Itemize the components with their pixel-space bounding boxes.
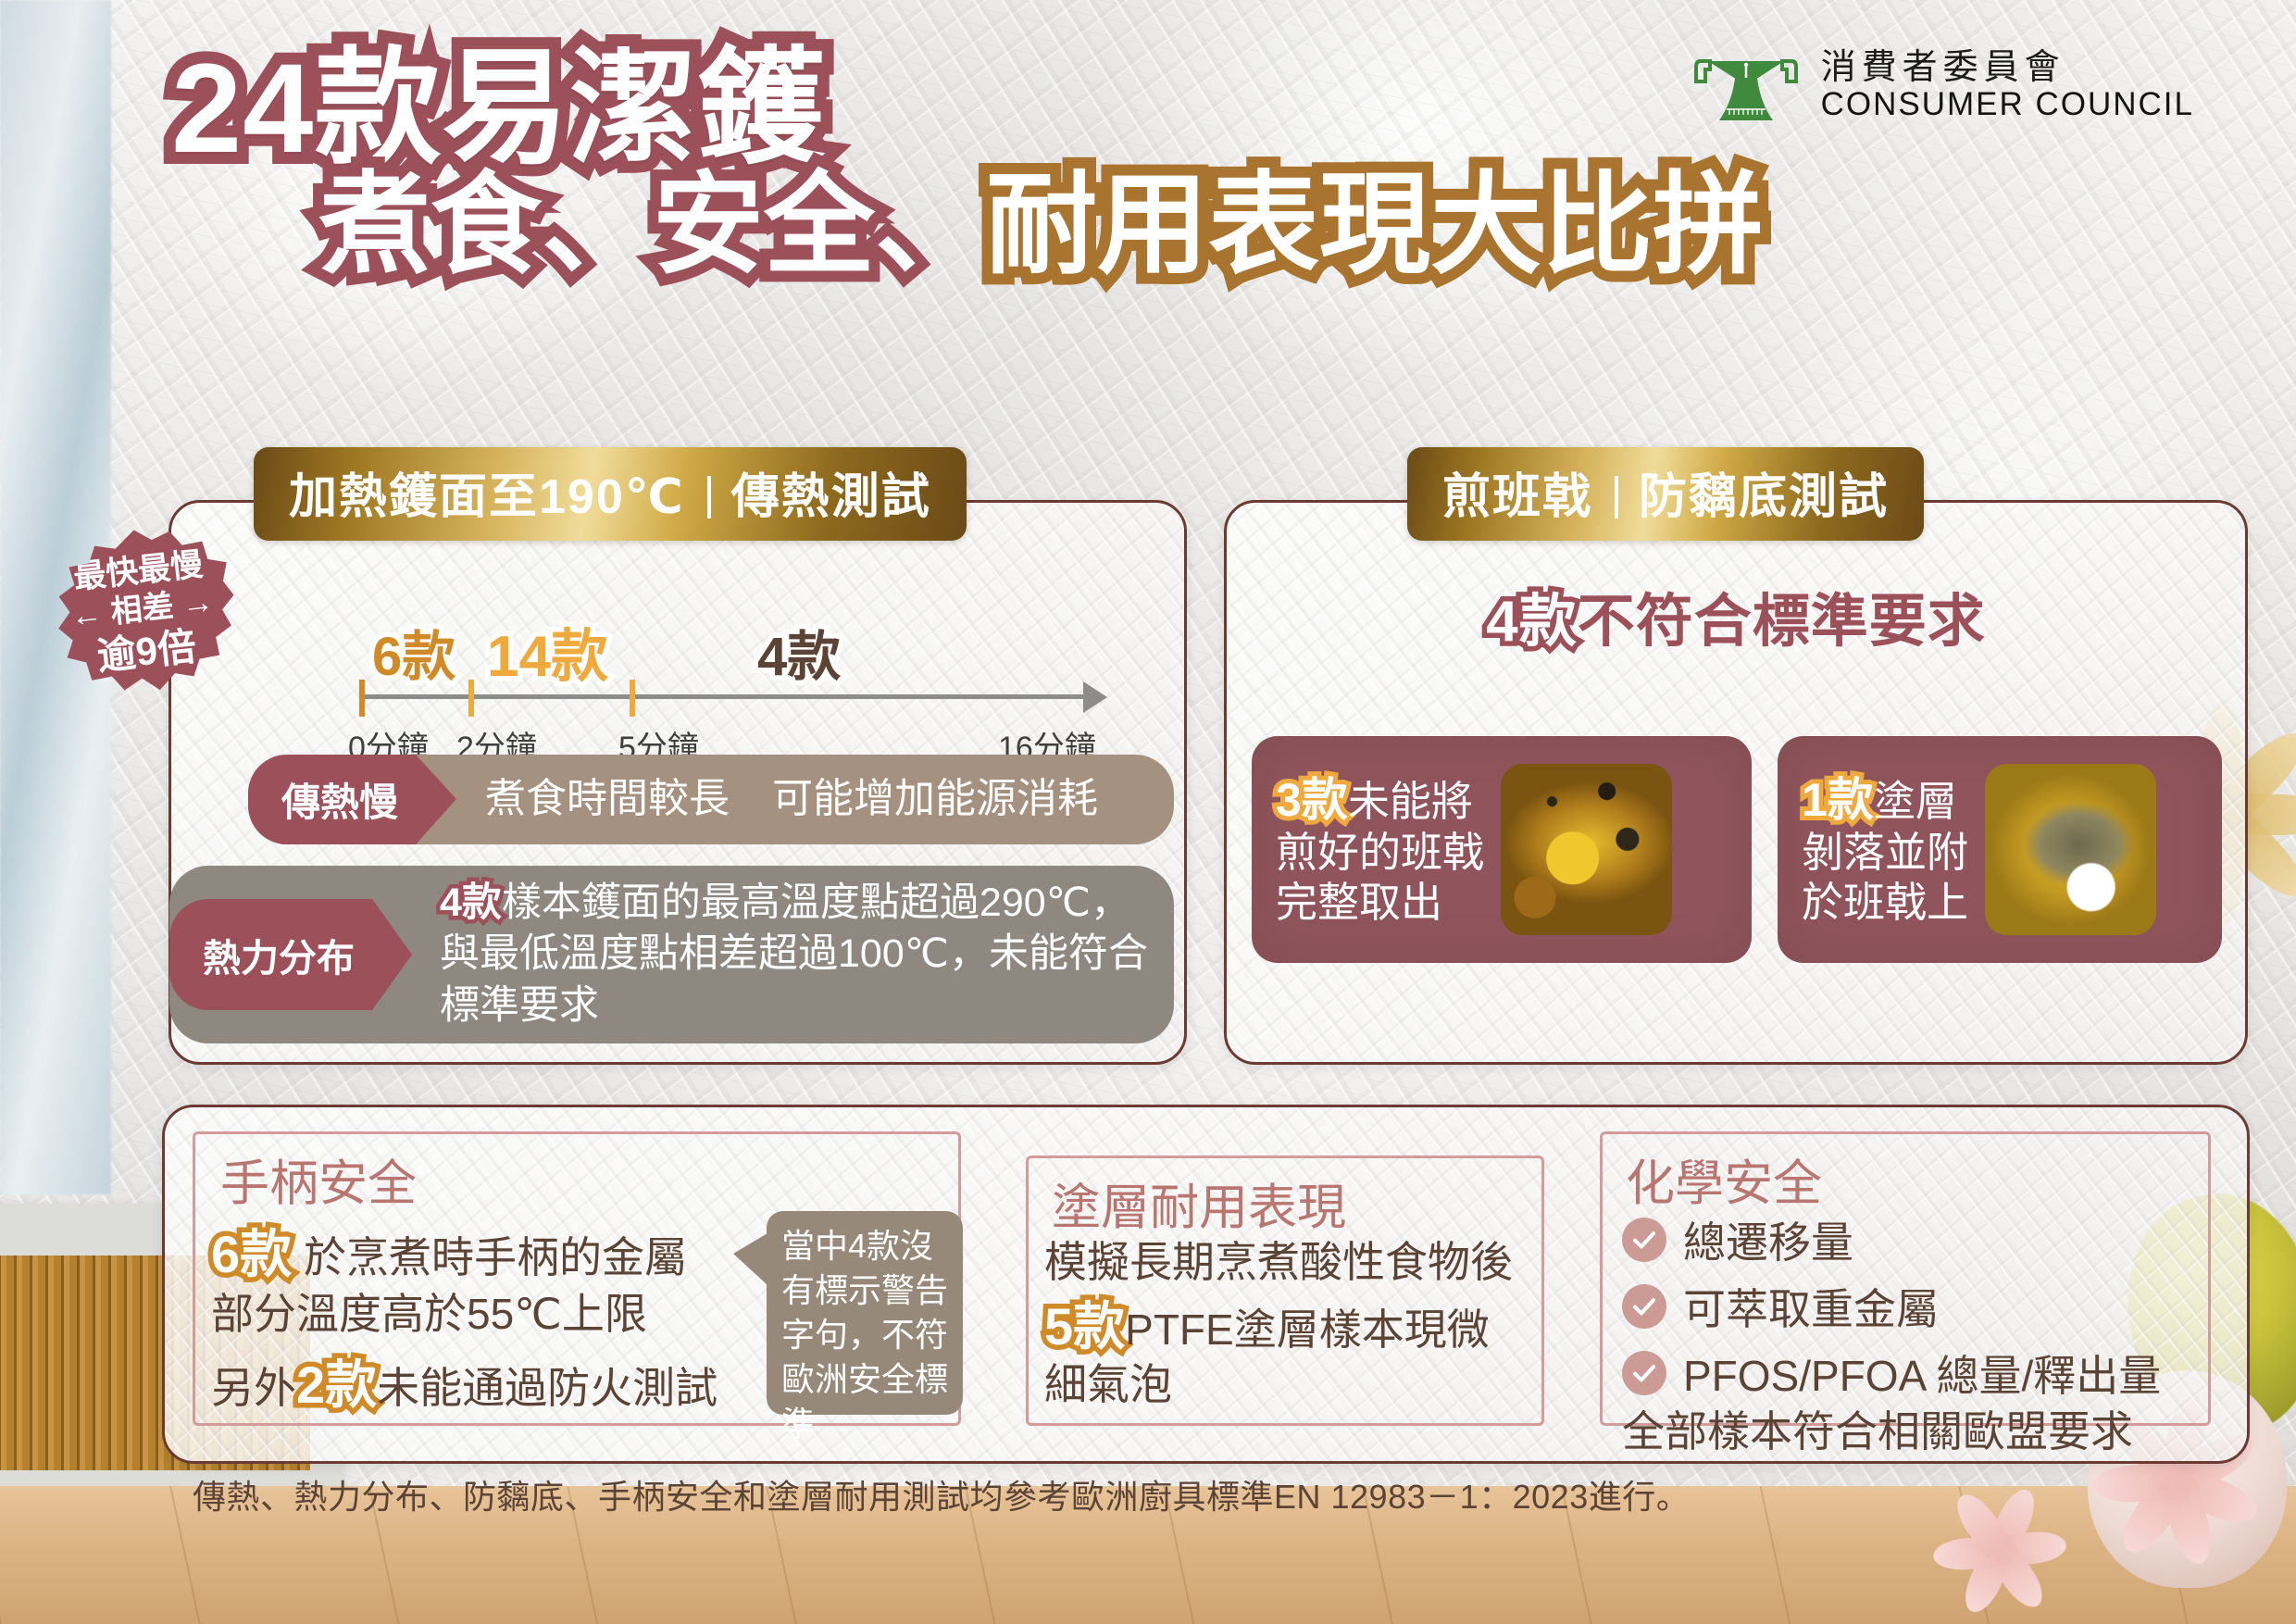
heat-distribution-highlight: 4款	[440, 881, 502, 925]
stick-headline-num: 4款	[1486, 590, 1577, 654]
card-1-text: 3款未能將 煎好的班戟 完整取出	[1276, 772, 1484, 928]
stick-panel-header: 煎班戟 防黐底測試	[1407, 447, 1924, 541]
slow-heat-bar: 傳熱慢 煮食時間較長 可能增加能源消耗	[248, 755, 1174, 844]
logo-name-en: CONSUMER COUNCIL	[1821, 87, 2194, 123]
coating-line-1: 模擬長期烹煮酸性食物後	[1044, 1231, 1549, 1293]
logo-name-cn: 消費者委員會	[1821, 50, 2194, 87]
chemical-item-1-label: 總遷移量	[1683, 1209, 1853, 1270]
slow-heat-text-b: 可能增加能源消耗	[772, 773, 1098, 825]
heat-panel-header: 加熱鑊面至190℃ 傳熱測試	[254, 447, 967, 541]
heat-header-left: 加熱鑊面至190℃	[289, 457, 685, 527]
handle-line-1-text: 於烹煮時手柄的金屬	[304, 1233, 687, 1281]
timeline-count-14: 14款	[487, 609, 608, 693]
heat-distribution-body: 樣本鑊面的最高溫度點超過290℃，與最低溫度點相差超過100℃，未能符合標準要求	[440, 881, 1148, 1027]
badge-line-3: 逾9倍	[94, 624, 198, 678]
check-circle-icon	[1622, 1284, 1666, 1329]
check-icon	[1630, 1359, 1658, 1387]
slow-heat-text-a: 煮食時間較長	[485, 773, 730, 825]
stick-headline-rest: 不符合標準要求	[1578, 590, 1986, 654]
handle-num-2: 2款	[296, 1355, 377, 1414]
card-2-num: 1款	[1802, 774, 1874, 826]
coating-num-5: 5款	[1044, 1297, 1125, 1355]
handle-line-3-text: 未能通過防火測試	[377, 1364, 717, 1412]
non-stick-result-card-2: 1款塗層 剝落並附 於班戟上	[1778, 736, 2222, 963]
handle-line-3-prefix: 另外	[211, 1364, 296, 1412]
handle-num-6: 6款	[211, 1225, 292, 1283]
check-circle-icon	[1622, 1218, 1666, 1262]
coating-durability-title: 塗層耐用表現	[1052, 1168, 1346, 1239]
heat-header-right: 傳熱測試	[731, 457, 931, 527]
pink-flower-decoration	[2177, 1481, 2187, 1491]
warning-label-callout: 當中4款沒有標示警告字句，不符歐洲安全標準	[767, 1211, 963, 1415]
page-title: 24款易潔鑊 煮食、安全、 耐用表現大比拼	[171, 44, 1764, 281]
stick-header-left: 煎班戟	[1442, 457, 1592, 527]
header-divider	[707, 476, 711, 518]
burnt-pancake-photo	[1501, 764, 1672, 935]
coating-line-2-text: PTFE塗層樣本現微	[1125, 1305, 1490, 1354]
check-circle-icon	[1622, 1351, 1666, 1395]
timeline-count-4: 4款	[757, 613, 841, 691]
check-icon	[1630, 1226, 1658, 1254]
slow-heat-tag: 傳熱慢	[248, 755, 417, 844]
heat-distribution-bar: 熱力分布 4款樣本鑊面的最高溫度點超過290℃，與最低溫度點相差超過100℃，未…	[169, 866, 1174, 1043]
title-line-2: 煮食、安全、 耐用表現大比拼	[319, 169, 1764, 281]
chemical-safety-title: 化學安全	[1626, 1144, 1822, 1215]
card-1-num: 3款	[1276, 774, 1348, 826]
title-line-1: 24款易潔鑊	[171, 44, 1764, 174]
timeline-count-6: 6款	[372, 613, 455, 691]
slow-heat-text: 煮食時間較長 可能增加能源消耗	[485, 773, 1098, 825]
peeled-coating-photo	[1985, 764, 2156, 935]
chemical-item-2-label: 可萃取重金屬	[1683, 1276, 1939, 1337]
header-divider	[1615, 476, 1618, 518]
chemical-item-2: 可萃取重金屬	[1622, 1276, 1939, 1337]
timeline-tick-2	[468, 680, 474, 717]
timeline-arrow-icon	[1083, 681, 1107, 713]
stick-headline: 4款不符合標準要求	[1224, 574, 2248, 657]
title-line-2-part-2: 耐用表現大比拼	[986, 169, 1764, 281]
card-2-text: 1款塗層 剝落並附 於班戟上	[1802, 772, 1968, 928]
consumer-council-logo: 消費者委員會 CONSUMER COUNCIL	[1691, 44, 2194, 128]
chemical-item-3-label: PFOS/PFOA 總量/釋出量	[1683, 1343, 2161, 1404]
heat-distribution-tag: 熱力分布	[169, 899, 373, 1010]
pink-flower-decoration-2	[2000, 1551, 2009, 1560]
check-icon	[1630, 1293, 1658, 1320]
heat-distribution-text: 4款樣本鑊面的最高溫度點超過290℃，與最低溫度點相差超過100℃，未能符合標準…	[440, 878, 1155, 1031]
non-stick-result-card-1: 3款未能將 煎好的班戟 完整取出	[1252, 736, 1752, 963]
chemical-safety-note: 全部樣本符合相關歐盟要求	[1622, 1398, 2133, 1459]
coating-line-3: 細氣泡	[1044, 1354, 1549, 1415]
timeline-tick-0	[359, 680, 365, 717]
stick-header-right: 防黐底測試	[1639, 457, 1889, 527]
handle-safety-title: 手柄安全	[220, 1144, 417, 1215]
chemical-item-3: PFOS/PFOA 總量/釋出量	[1622, 1343, 2161, 1404]
footnote: 傳熱、熱力分布、防黐底、手柄安全和塗層耐用測試均參考歐洲廚具標準EN 12983…	[193, 1470, 1690, 1518]
title-line-2-part-1: 煮食、安全、	[319, 169, 986, 281]
chemical-item-1: 總遷移量	[1622, 1209, 1853, 1270]
timeline-tick-5	[630, 680, 635, 717]
